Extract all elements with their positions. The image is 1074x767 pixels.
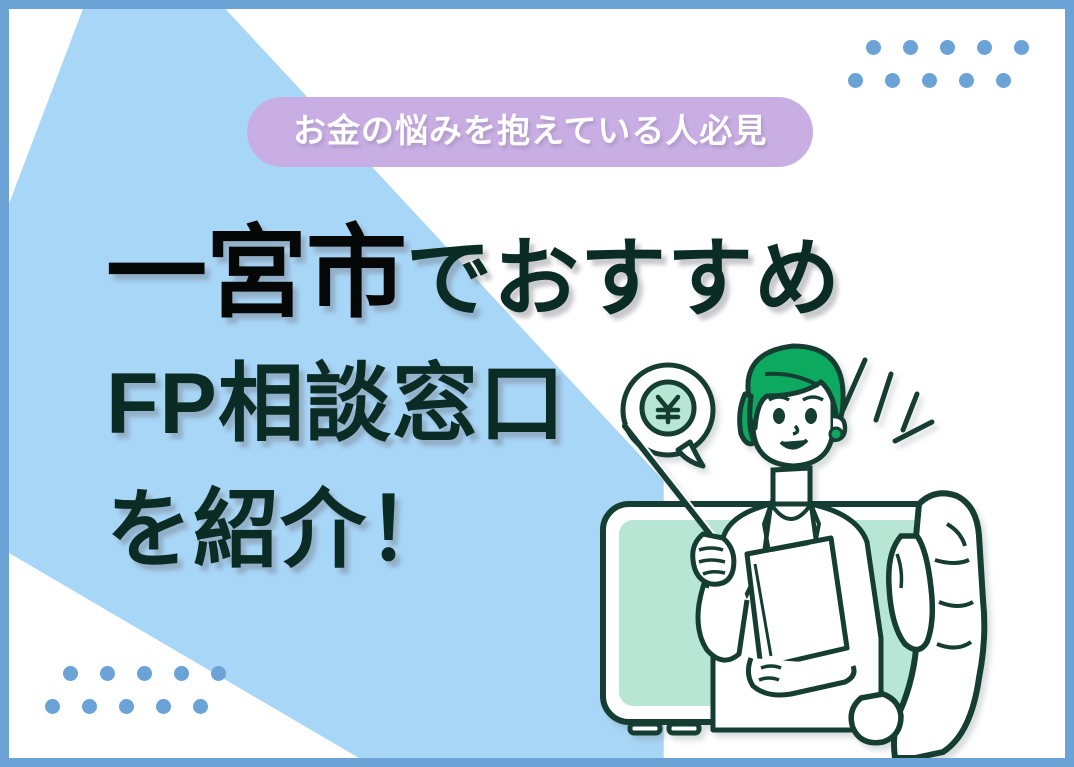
dot [885, 73, 900, 88]
dot-row [866, 40, 1029, 55]
dot [922, 73, 937, 88]
headline-line-3-text: を紹介！ [106, 482, 454, 578]
dot [903, 40, 918, 55]
dot [959, 73, 974, 88]
dot [156, 699, 171, 714]
dot-row [848, 73, 1029, 88]
gripping-hand [693, 534, 734, 584]
clipboard [747, 538, 847, 668]
dot [211, 666, 226, 681]
decor-dots-top-right [848, 40, 1029, 88]
speech-bubble-yen-icon [623, 365, 713, 466]
dot [45, 699, 60, 714]
dot [174, 666, 189, 681]
headline-line-1: 一宮市でおすすめ [106, 224, 841, 325]
headline-line-2-text: FP相談窓口 [106, 356, 566, 452]
advisor-illustration [595, 338, 1065, 758]
dot [996, 73, 1011, 88]
headline-line-1-rest: でおすすめ [406, 231, 841, 327]
dot [940, 40, 955, 55]
dot [82, 699, 97, 714]
dot [1014, 40, 1029, 55]
dot [100, 666, 115, 681]
headline-city: 一宮市 [106, 218, 406, 330]
banner-root: お金の悩みを抱えている人必見 一宮市でおすすめ FP相談窓口 を紹介！ [0, 0, 1074, 767]
dot [63, 666, 78, 681]
banner-canvas: お金の悩みを抱えている人必見 一宮市でおすすめ FP相談窓口 を紹介！ [9, 9, 1065, 758]
dot [193, 699, 208, 714]
dot [137, 666, 152, 681]
dot [848, 73, 863, 88]
dot-row [45, 699, 226, 714]
dot-row [63, 666, 226, 681]
dot [977, 40, 992, 55]
catch-badge: お金の悩みを抱えている人必見 [247, 97, 813, 167]
decor-dots-bottom-left [45, 666, 226, 714]
dot [866, 40, 881, 55]
dot [119, 699, 134, 714]
